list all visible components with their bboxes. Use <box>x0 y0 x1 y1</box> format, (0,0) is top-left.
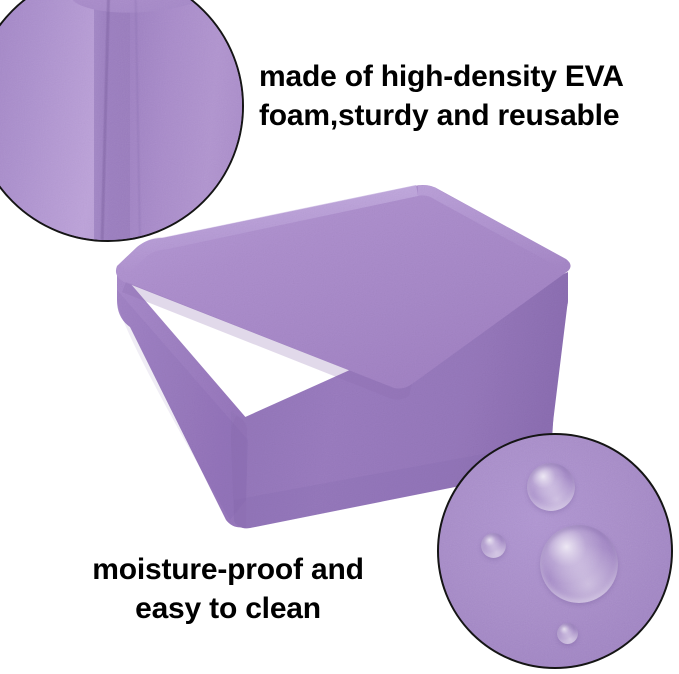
corner-foam-texture <box>0 0 244 242</box>
caption-bottom-left: moisture-proof and easy to clean <box>38 550 418 628</box>
block-left-shadow <box>117 290 248 520</box>
block-corner-seam <box>231 416 247 528</box>
caption-top-right: made of high-density EVA foam,sturdy and… <box>259 57 679 135</box>
droplet-small-left <box>481 533 506 558</box>
product-image-canvas: made of high-density EVA foam,sturdy and… <box>0 0 679 674</box>
droplet-tiny-bottom <box>557 623 578 644</box>
callout-water-beading-detail <box>437 433 673 669</box>
block-top-front-edge <box>122 282 412 400</box>
droplet-large-center <box>540 525 618 603</box>
droplet-medium-top <box>527 463 575 511</box>
block-top-ridge-right <box>418 185 566 268</box>
block-left-face <box>117 268 248 527</box>
callout-corner-detail <box>0 0 244 242</box>
